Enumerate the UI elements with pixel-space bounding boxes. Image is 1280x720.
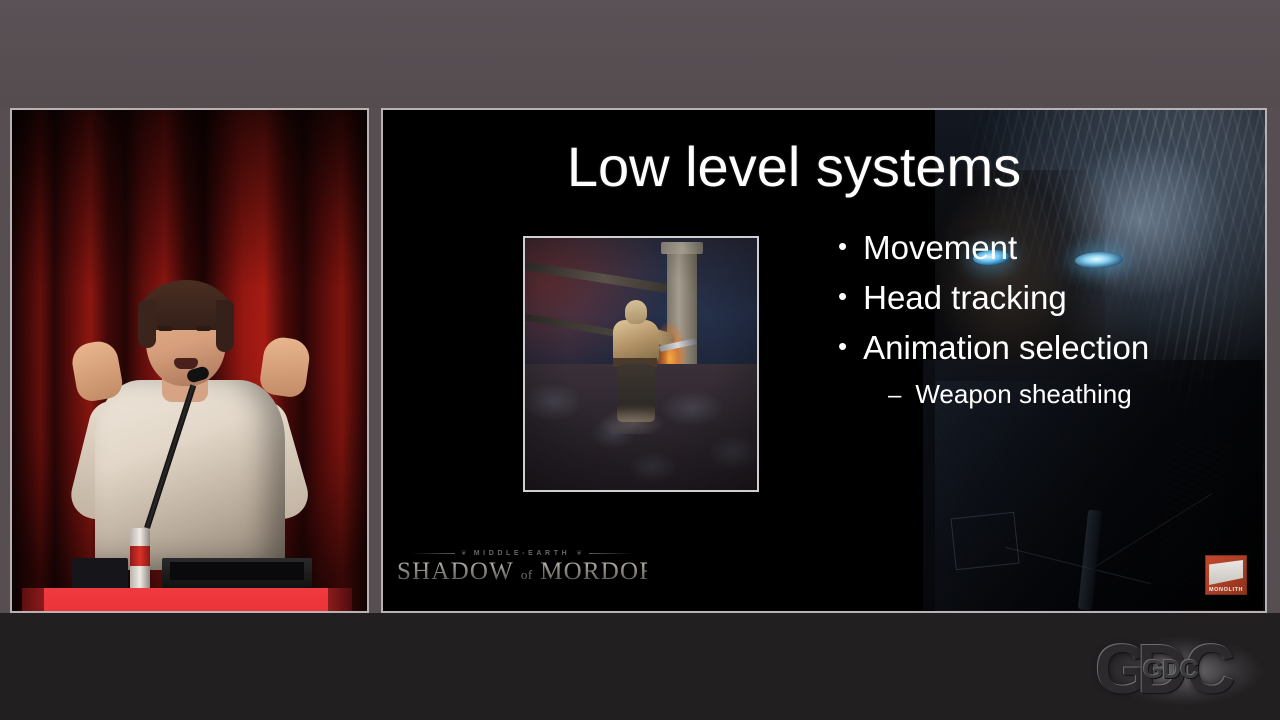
game-screenshot-thumbnail[interactable] xyxy=(523,236,759,492)
sub-bullet-item-weapon-sheathing: – Weapon sheathing xyxy=(888,379,1238,410)
thumbnail-vignette xyxy=(525,238,757,490)
speaker-hair-left xyxy=(138,300,156,348)
wordmark-shadow: SHADOW xyxy=(397,558,513,585)
speaker-mouth xyxy=(174,358,198,369)
monolith-mark-icon xyxy=(1209,560,1243,585)
slide-title: Low level systems xyxy=(383,134,1265,199)
speaker-figure xyxy=(50,260,340,590)
right-letterbox-bar xyxy=(1267,108,1280,614)
logo-rule-left xyxy=(411,553,455,554)
bullet-dot-icon: • xyxy=(838,283,847,309)
shadow-of-mordor-logo: ❦ MIDDLE-EARTH ❦ SHADOW of MORDOR xyxy=(397,549,647,593)
bullet-label: Animation selection xyxy=(863,323,1149,373)
podium-right-edge xyxy=(328,588,352,613)
speaker-left-hand xyxy=(69,338,124,403)
logo-flourish-right-icon: ❦ xyxy=(576,549,583,557)
gdc-logo: G D C GDC xyxy=(1093,634,1271,708)
monolith-wordmark: MONOLITH xyxy=(1209,587,1243,593)
slide-detail-square xyxy=(950,512,1019,570)
laptop-screen xyxy=(170,562,304,580)
sub-bullet-dash-icon: – xyxy=(888,382,901,410)
podium-left-edge xyxy=(22,588,44,613)
panel-gutter xyxy=(369,108,381,614)
speaker-torso xyxy=(95,380,285,570)
middle-earth-text: MIDDLE-EARTH xyxy=(474,550,570,557)
speaker-hair-right xyxy=(216,300,234,352)
bullet-item-animation-selection: • Animation selection xyxy=(838,323,1238,373)
bullet-dot-icon: • xyxy=(838,233,847,259)
left-letterbox-bar xyxy=(0,108,10,614)
bullet-label: Movement xyxy=(863,223,1017,273)
conference-talk-video[interactable]: AI ARTIFICIAL INTELLIGENCE SUMMIT xyxy=(10,108,369,613)
wordmark-of: of xyxy=(521,567,533,582)
bullet-item-movement: • Movement xyxy=(838,223,1238,273)
ai-summit-podium-sign: AI ARTIFICIAL INTELLIGENCE SUMMIT xyxy=(97,608,327,613)
bullet-label: Head tracking xyxy=(863,273,1067,323)
speaker-left-eye xyxy=(158,326,173,331)
shadow-of-mordor-wordmark: SHADOW of MORDOR xyxy=(397,558,647,586)
presentation-slide[interactable]: Low level systems • Movement • Head trac xyxy=(381,108,1267,613)
bullet-item-head-tracking: • Head tracking xyxy=(838,273,1238,323)
speaker-right-hand xyxy=(258,335,312,399)
wordmark-mordor: MORDOR xyxy=(540,558,657,585)
logo-flourish-left-icon: ❦ xyxy=(461,549,468,557)
logo-rule-right xyxy=(589,553,633,554)
water-bottle-label xyxy=(130,546,150,566)
sub-bullet-label: Weapon sheathing xyxy=(915,379,1131,410)
monolith-studio-logo: MONOLITH xyxy=(1205,555,1247,595)
top-letterbox-bar xyxy=(0,0,1280,108)
podium-equipment-block xyxy=(72,558,128,590)
bullet-dot-icon: • xyxy=(838,333,847,359)
middle-earth-superline: ❦ MIDDLE-EARTH ❦ xyxy=(397,549,647,557)
bottom-footer-bar xyxy=(0,613,1280,720)
gdc-inner-wordmark: GDC xyxy=(1143,654,1198,685)
slide-bullet-list: • Movement • Head tracking • Animation s… xyxy=(838,223,1238,410)
speaker-right-eye xyxy=(196,326,211,331)
